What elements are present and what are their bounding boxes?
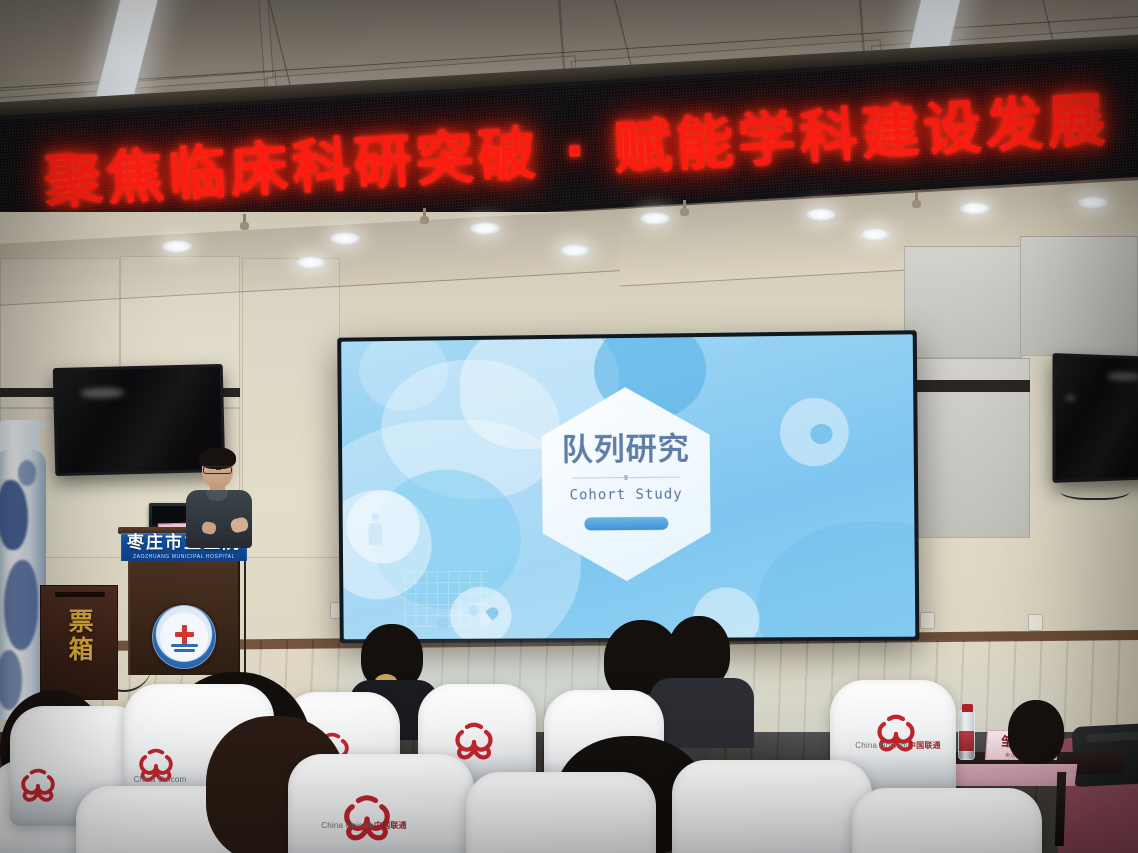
wall-tv-right [1052,353,1138,483]
sprinkler-head-icon [680,200,689,216]
sprinkler-head-icon [912,192,921,208]
china-unicom-logo-icon [452,722,496,762]
lecture-hall-photo: 聚焦临床科研突破 · 赋能学科建设发展 [0,0,1138,853]
audience-head [1008,700,1064,764]
dot-icon [468,605,479,616]
glasses-icon [203,466,232,474]
slide-canvas: 队列研究 Cohort Study [341,334,915,639]
chair [672,760,872,853]
presenter [184,450,256,546]
dot-icon [436,617,449,629]
wall-outlet [1028,614,1043,631]
ballot-slot [55,592,105,597]
slide-accent-bar [584,516,668,530]
hospital-emblem-icon [152,605,216,669]
wall-outlet [920,612,935,629]
china-unicom-logo-icon: China Unicom中国联通 [874,714,918,754]
ballot-box-label: 票箱 [66,608,92,664]
ballot-box: 票箱 [40,585,118,700]
sprinkler-head-icon [240,214,249,230]
sprinkler-head-icon [420,208,429,224]
projection-screen: 队列研究 Cohort Study [337,330,919,643]
person-icon [366,513,384,547]
podium-sign-en: ZAOZHUANG MUNICIPAL HOSPITAL [133,554,235,560]
capsule-pill-icon-badge [450,587,512,640]
slide-title: 队列研究 [562,434,690,466]
water-bottle [958,710,975,760]
chair [466,772,656,853]
china-unicom-logo-icon: China Unicom [136,748,180,788]
chair: China Unicom中国联通 [288,754,474,853]
slide-divider [572,476,680,478]
chair-brand-label: China Unicom [108,776,212,785]
chair [852,788,1042,853]
slide-subtitle: Cohort Study [570,486,683,503]
china-unicom-logo-icon [18,768,62,808]
chair-brand-label: China Unicom中国联通 [846,742,950,751]
china-unicom-logo-icon: China Unicom中国联通 [340,794,384,834]
chair-brand-label: China Unicom中国联通 [312,822,416,831]
podium: 枣庄市立医院 ZAOZHUANG MUNICIPAL HOSPITAL [118,527,250,675]
